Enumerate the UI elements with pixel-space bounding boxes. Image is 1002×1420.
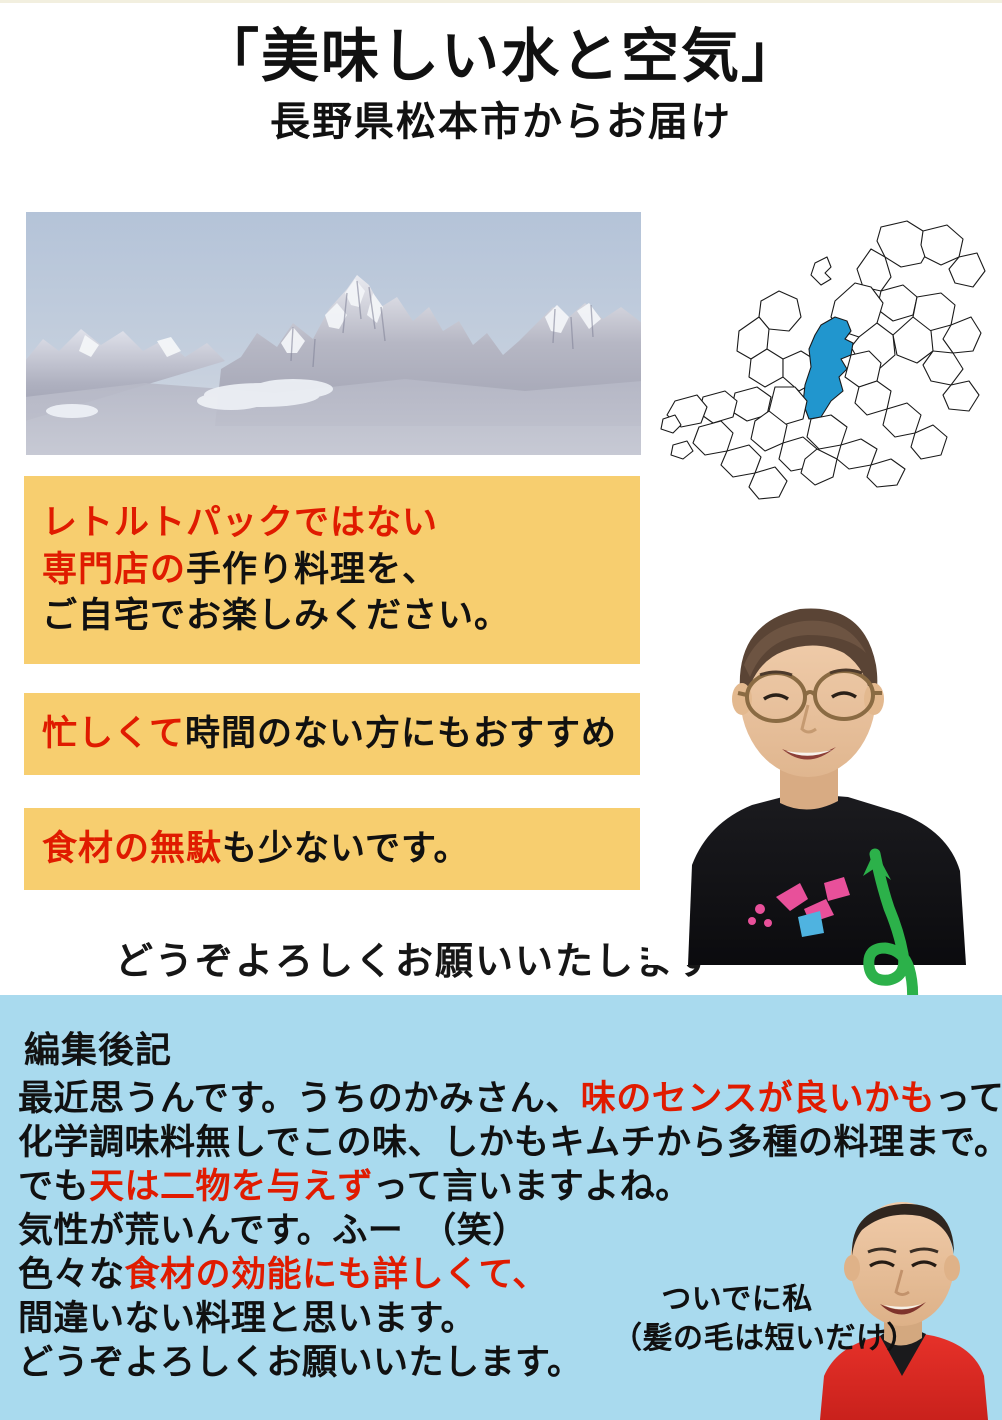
ps1-a: 最近思うんです。うちのかみさん、 <box>18 1078 581 1119</box>
ps1-b: 味のセンスが良いかも <box>581 1078 935 1119</box>
callout-2-red: 忙しくて <box>42 713 185 754</box>
author-caption-line-2: （髪の毛は短いだけ） <box>612 1319 862 1358</box>
page-header: 「美味しい水と空気」 長野県松本市からお届け <box>0 22 1002 148</box>
mountain-photo <box>25 211 642 456</box>
ps3-a: でも <box>18 1166 89 1207</box>
ps7-a: どうぞよろしくお願いいたします。 <box>18 1342 583 1383</box>
author-caption-line-1: ついでに私 <box>612 1280 862 1319</box>
callout-box-3: 食材の無駄も少ないです。 <box>24 808 640 890</box>
callout-1-line-3-black: ご自宅でお楽しみください。 <box>42 595 510 636</box>
japan-map <box>655 205 995 515</box>
ps3-b: 天は二物を与えず <box>89 1166 373 1207</box>
callout-1-line-2: 専門店の手作り料理を、 <box>24 547 640 594</box>
ps1-c: って。 <box>935 1078 1002 1119</box>
page-top-rule <box>0 0 1002 3</box>
callout-1-line-2-black: 手作り料理を、 <box>186 549 438 590</box>
ps5-b: 食材の効能にも詳しくて、 <box>125 1254 548 1295</box>
callout-3-red: 食材の無駄 <box>42 828 222 869</box>
callout-2-black: 時間のない方にもおすすめ <box>185 713 617 754</box>
callout-3-black: も少ないです。 <box>222 828 469 869</box>
author-caption: ついでに私 （髪の毛は短いだけ） <box>612 1280 862 1358</box>
callout-1-line-2-red: 専門店の <box>42 549 186 590</box>
postscript-line-1: 最近思うんです。うちのかみさん、味のセンスが良いかもって。 <box>18 1077 993 1121</box>
ps6-a: 間違いない料理と思います。 <box>18 1298 476 1339</box>
nagano-prefecture-highlight <box>803 317 853 419</box>
callout-box-2: 忙しくて時間のない方にもおすすめ <box>24 693 640 775</box>
ps2-a: 化学調味料無しでこの味、しかもキムチから多種の料理まで。 <box>18 1122 1002 1163</box>
ps5-a: 色々な <box>18 1254 125 1295</box>
ps3-c: って言いますよね。 <box>373 1166 691 1207</box>
page-subtitle: 長野県松本市からお届け <box>0 96 1002 148</box>
callout-1-line-1-red: レトルトパックではない <box>42 502 438 543</box>
mountain-photo-graphic <box>25 211 642 456</box>
japan-map-graphic <box>655 205 995 515</box>
callout-1-line-1: レトルトパックではない <box>24 500 640 547</box>
postscript-line-2: 化学調味料無しでこの味、しかもキムチから多種の料理まで。 <box>18 1121 993 1165</box>
callout-3-line-1: 食材の無駄も少ないです。 <box>24 826 640 873</box>
wife-photo <box>648 565 998 965</box>
callout-box-1: レトルトパックではない 専門店の手作り料理を、 ご自宅でお楽しみください。 <box>24 476 640 664</box>
ps4-a: 気性が荒いんです。ふー （笑） <box>18 1210 528 1251</box>
callout-1-line-3: ご自宅でお楽しみください。 <box>24 593 640 640</box>
wife-photo-graphic <box>648 565 998 965</box>
postscript-heading: 編集後記 <box>24 1021 172 1073</box>
callout-2-line-1: 忙しくて時間のない方にもおすすめ <box>24 711 640 758</box>
page-title: 「美味しい水と空気」 <box>0 22 1002 90</box>
